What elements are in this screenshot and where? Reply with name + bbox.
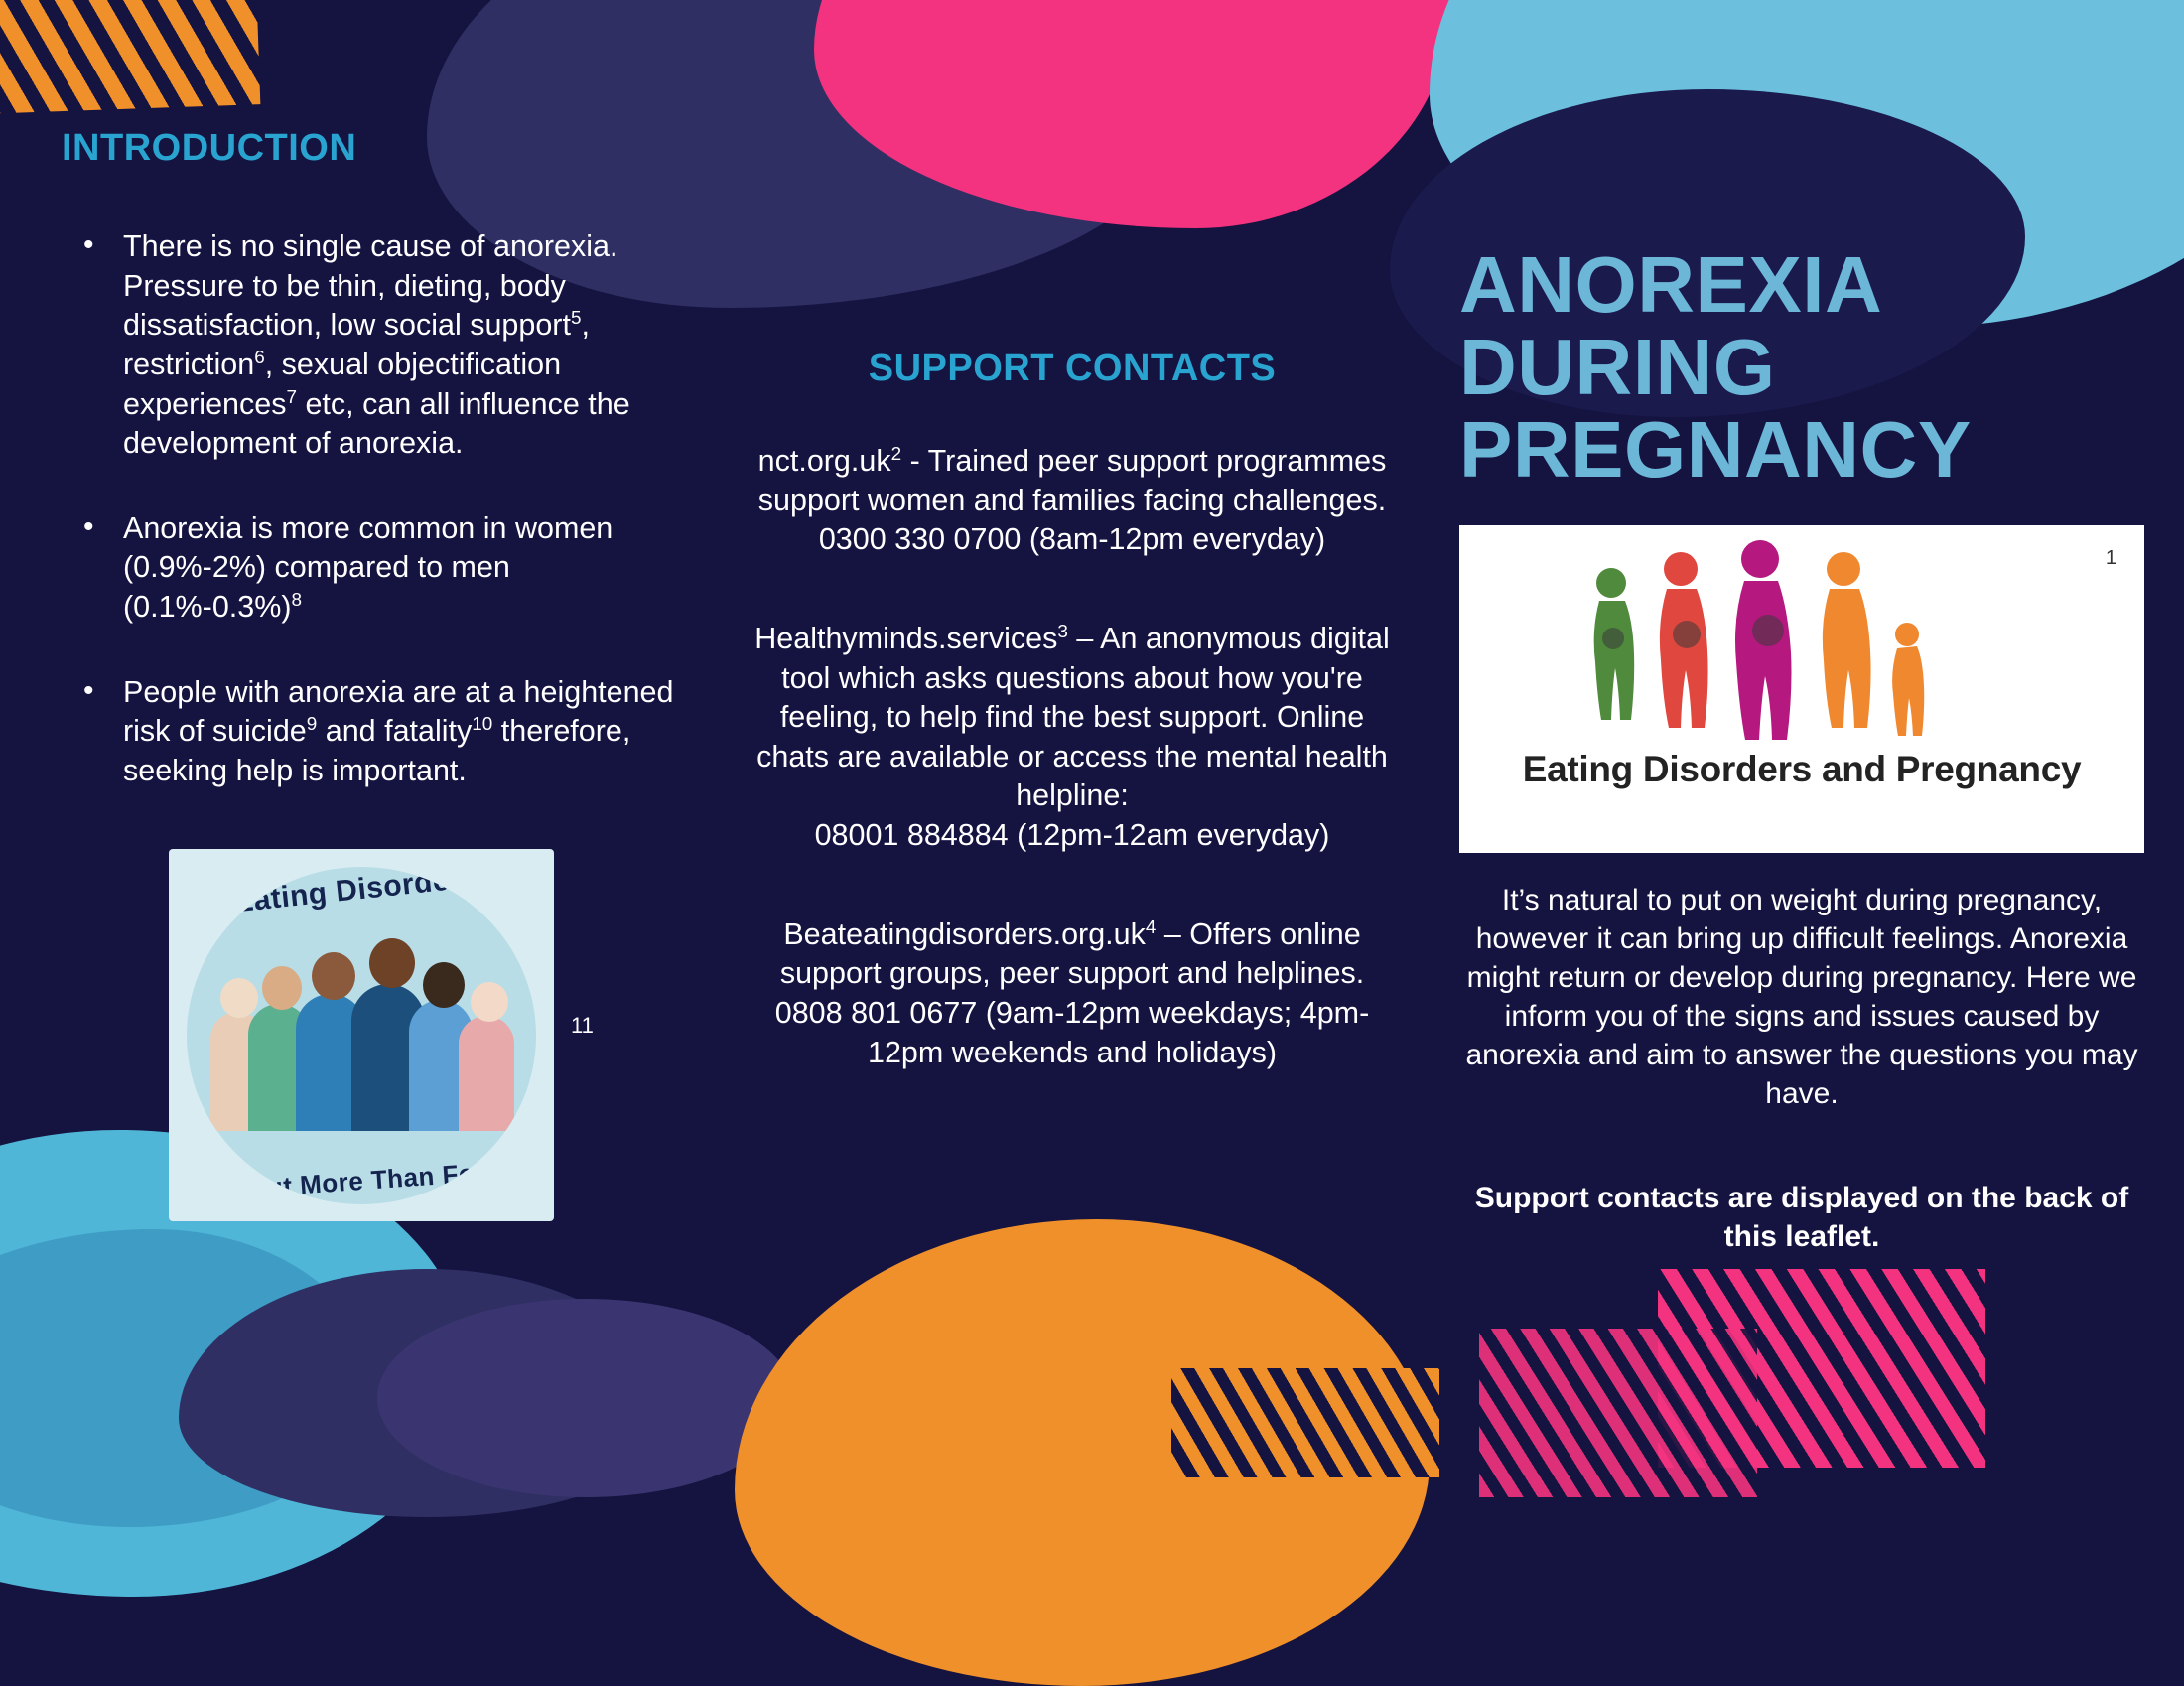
support-contact-phone[interactable]: 0808 801 0677 (9am-12pm weekdays; 4pm-12…: [775, 996, 1370, 1069]
decorative-blob-cyan-left-2: [0, 1229, 377, 1527]
main-title-line-1: ANOREXIA: [1459, 243, 2144, 326]
illustration-circle: Eating Disorders: About More Than Food: [187, 867, 536, 1204]
decorative-stripes-orange-bottom: [1171, 1368, 1439, 1477]
introduction-bullet-item: People with anorexia are at a heightened…: [62, 673, 697, 791]
person-head-4: [369, 938, 415, 988]
support-contact-entry[interactable]: Healthyminds.services3 – An anonymous di…: [754, 620, 1390, 856]
reference-superscript: 8: [292, 590, 303, 611]
title-column: ANOREXIA DURING PREGNANCY 1: [1459, 243, 2144, 1256]
support-contact-phone[interactable]: 0300 330 0700 (8am-12pm everyday): [819, 522, 1325, 556]
person-head-3: [312, 952, 355, 1000]
support-contact-entry[interactable]: Beateatingdisorders.org.uk4 – Offers onl…: [754, 915, 1390, 1073]
main-title-line-2: DURING: [1459, 326, 2144, 408]
person-head-5: [423, 962, 465, 1008]
pregnancy-silhouettes-icon: [1564, 539, 2040, 753]
person-head-1: [220, 978, 258, 1018]
support-contact-name[interactable]: Beateatingdisorders.org.uk: [783, 917, 1146, 951]
person-figure-6: [459, 1016, 514, 1131]
introduction-bullet-item: There is no single cause of anorexia. Pr…: [62, 227, 697, 464]
main-title-line-3: PREGNANCY: [1459, 408, 2144, 491]
decorative-blob-purple-bottom: [377, 1299, 794, 1497]
decorative-blob-orange-bottom: [735, 1219, 1430, 1686]
reference-superscript: 5: [571, 308, 582, 329]
introduction-column: INTRODUCTION There is no single cause of…: [62, 127, 697, 837]
intro-paragraph: It’s natural to put on weight during pre…: [1459, 881, 2144, 1113]
eating-disorders-illustration: Eating Disorders: About More Than Food: [169, 849, 554, 1221]
reference-superscript: 7: [286, 386, 297, 407]
person-head-2: [262, 966, 302, 1010]
reference-superscript: 3: [1057, 622, 1068, 642]
reference-superscript: 9: [307, 714, 318, 735]
support-contact-name[interactable]: nct.org.uk: [758, 444, 891, 478]
support-contact-entry[interactable]: nct.org.uk2 - Trained peer support progr…: [754, 442, 1390, 560]
banner-caption: Eating Disorders and Pregnancy: [1523, 749, 2082, 790]
support-contacts-title: SUPPORT CONTACTS: [754, 348, 1390, 390]
reference-superscript: 4: [1146, 917, 1157, 938]
decorative-stripes-pink-bottom-right: [1658, 1269, 1985, 1468]
reference-superscript: 2: [891, 444, 902, 465]
support-contact-name[interactable]: Healthyminds.services: [754, 622, 1057, 655]
reference-superscript: 6: [254, 348, 265, 368]
person-head-6: [471, 982, 508, 1022]
illustration-reference-number: 11: [571, 1013, 594, 1039]
leaflet-canvas: INTRODUCTION There is no single cause of…: [0, 0, 2184, 1458]
support-contacts-footer-note: Support contacts are displayed on the ba…: [1459, 1179, 2144, 1256]
leaflet-main-title: ANOREXIA DURING PREGNANCY: [1459, 243, 2144, 492]
introduction-title: INTRODUCTION: [62, 127, 697, 170]
introduction-bullet-list: There is no single cause of anorexia. Pr…: [62, 227, 697, 791]
decorative-blob-pink-top: [814, 0, 1449, 228]
support-contacts-list: nct.org.uk2 - Trained peer support progr…: [754, 442, 1390, 1072]
reference-superscript: 10: [472, 714, 492, 735]
introduction-bullet-item: Anorexia is more common in women (0.9%-2…: [62, 509, 697, 628]
banner-pregnancy-figures: [1564, 539, 2040, 753]
banner-reference-number: 1: [2106, 547, 2116, 570]
support-contact-phone[interactable]: 08001 884884 (12pm-12am everyday): [815, 818, 1330, 852]
eating-disorders-pregnancy-banner: 1: [1459, 525, 2144, 853]
decorative-stripes-orange-top-left: [0, 0, 260, 114]
decorative-blob-navy-bottom-left: [179, 1269, 675, 1517]
support-contacts-column: SUPPORT CONTACTS nct.org.uk2 - Trained p…: [754, 348, 1390, 1072]
decorative-stripes-pink-bottom-right-2: [1479, 1329, 1757, 1497]
